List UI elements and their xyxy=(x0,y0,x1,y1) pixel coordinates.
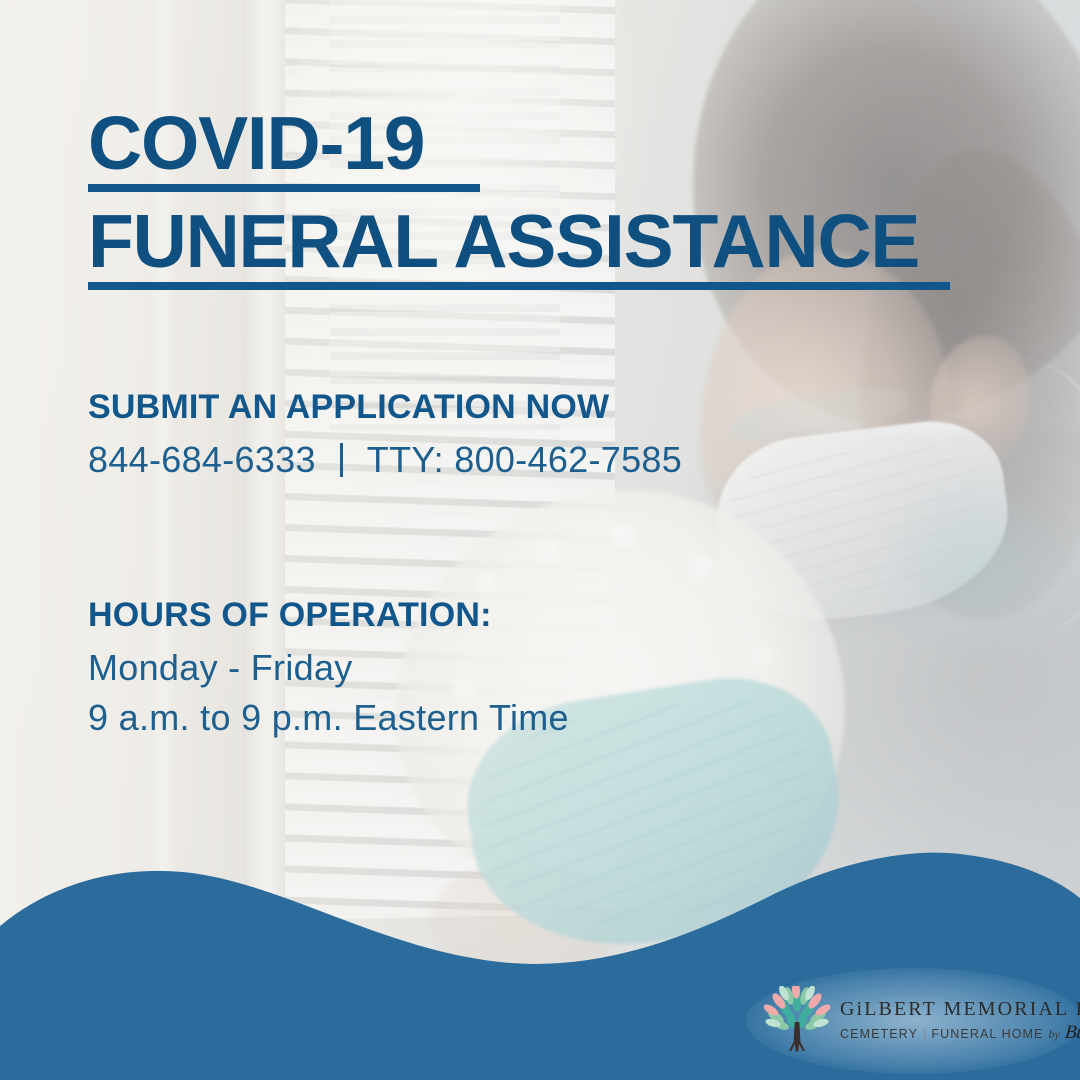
phone-primary[interactable]: 844-684-6333 xyxy=(88,439,316,480)
logo-by-word: by xyxy=(1048,1027,1059,1042)
gilbert-memorial-park-logo[interactable]: GiLBERT MEMORIAL PARK CEMETERY | FUNERAL… xyxy=(762,982,1062,1058)
headline-rule-2 xyxy=(88,282,950,290)
hours-title: HOURS OF OPERATION: xyxy=(88,596,569,635)
logo-service-cemetery: CEMETERY xyxy=(840,1027,918,1041)
hours-block: HOURS OF OPERATION: Monday - Friday 9 a.… xyxy=(88,596,569,739)
apply-title: SUBMIT AN APPLICATION NOW xyxy=(88,388,682,427)
logo-brand-script: Bunker Family xyxy=(1064,1022,1080,1044)
logo-service-funeral-home: FUNERAL HOME xyxy=(931,1027,1043,1041)
hours-times: 9 a.m. to 9 p.m. Eastern Time xyxy=(88,697,569,739)
poster-canvas: COVID-19 FUNERAL ASSISTANCE SUBMIT AN AP… xyxy=(0,0,1080,1080)
tree-icon xyxy=(762,986,832,1054)
hours-days: Monday - Friday xyxy=(88,647,569,689)
headline-line-2: FUNERAL ASSISTANCE xyxy=(88,206,950,276)
logo-separator: | xyxy=(923,1026,926,1041)
tree-icon-svg xyxy=(762,986,832,1054)
phone-divider xyxy=(340,443,343,477)
apply-phone-line: 844-684-6333 TTY: 800-462-7585 xyxy=(88,439,682,481)
apply-block: SUBMIT AN APPLICATION NOW 844-684-6333 T… xyxy=(88,388,682,481)
logo-company-name: GiLBERT MEMORIAL PARK xyxy=(840,998,1080,1020)
headline-group: COVID-19 FUNERAL ASSISTANCE xyxy=(88,108,950,290)
poster-content: COVID-19 FUNERAL ASSISTANCE SUBMIT AN AP… xyxy=(0,0,1080,1080)
logo-tagline: CEMETERY | FUNERAL HOME by Bunker Family xyxy=(840,1022,1080,1044)
phone-tty[interactable]: TTY: 800-462-7585 xyxy=(367,439,682,480)
logo-text-group: GiLBERT MEMORIAL PARK CEMETERY | FUNERAL… xyxy=(840,996,1080,1044)
headline-rule-1 xyxy=(88,184,480,192)
headline-line-1: COVID-19 xyxy=(88,108,950,178)
